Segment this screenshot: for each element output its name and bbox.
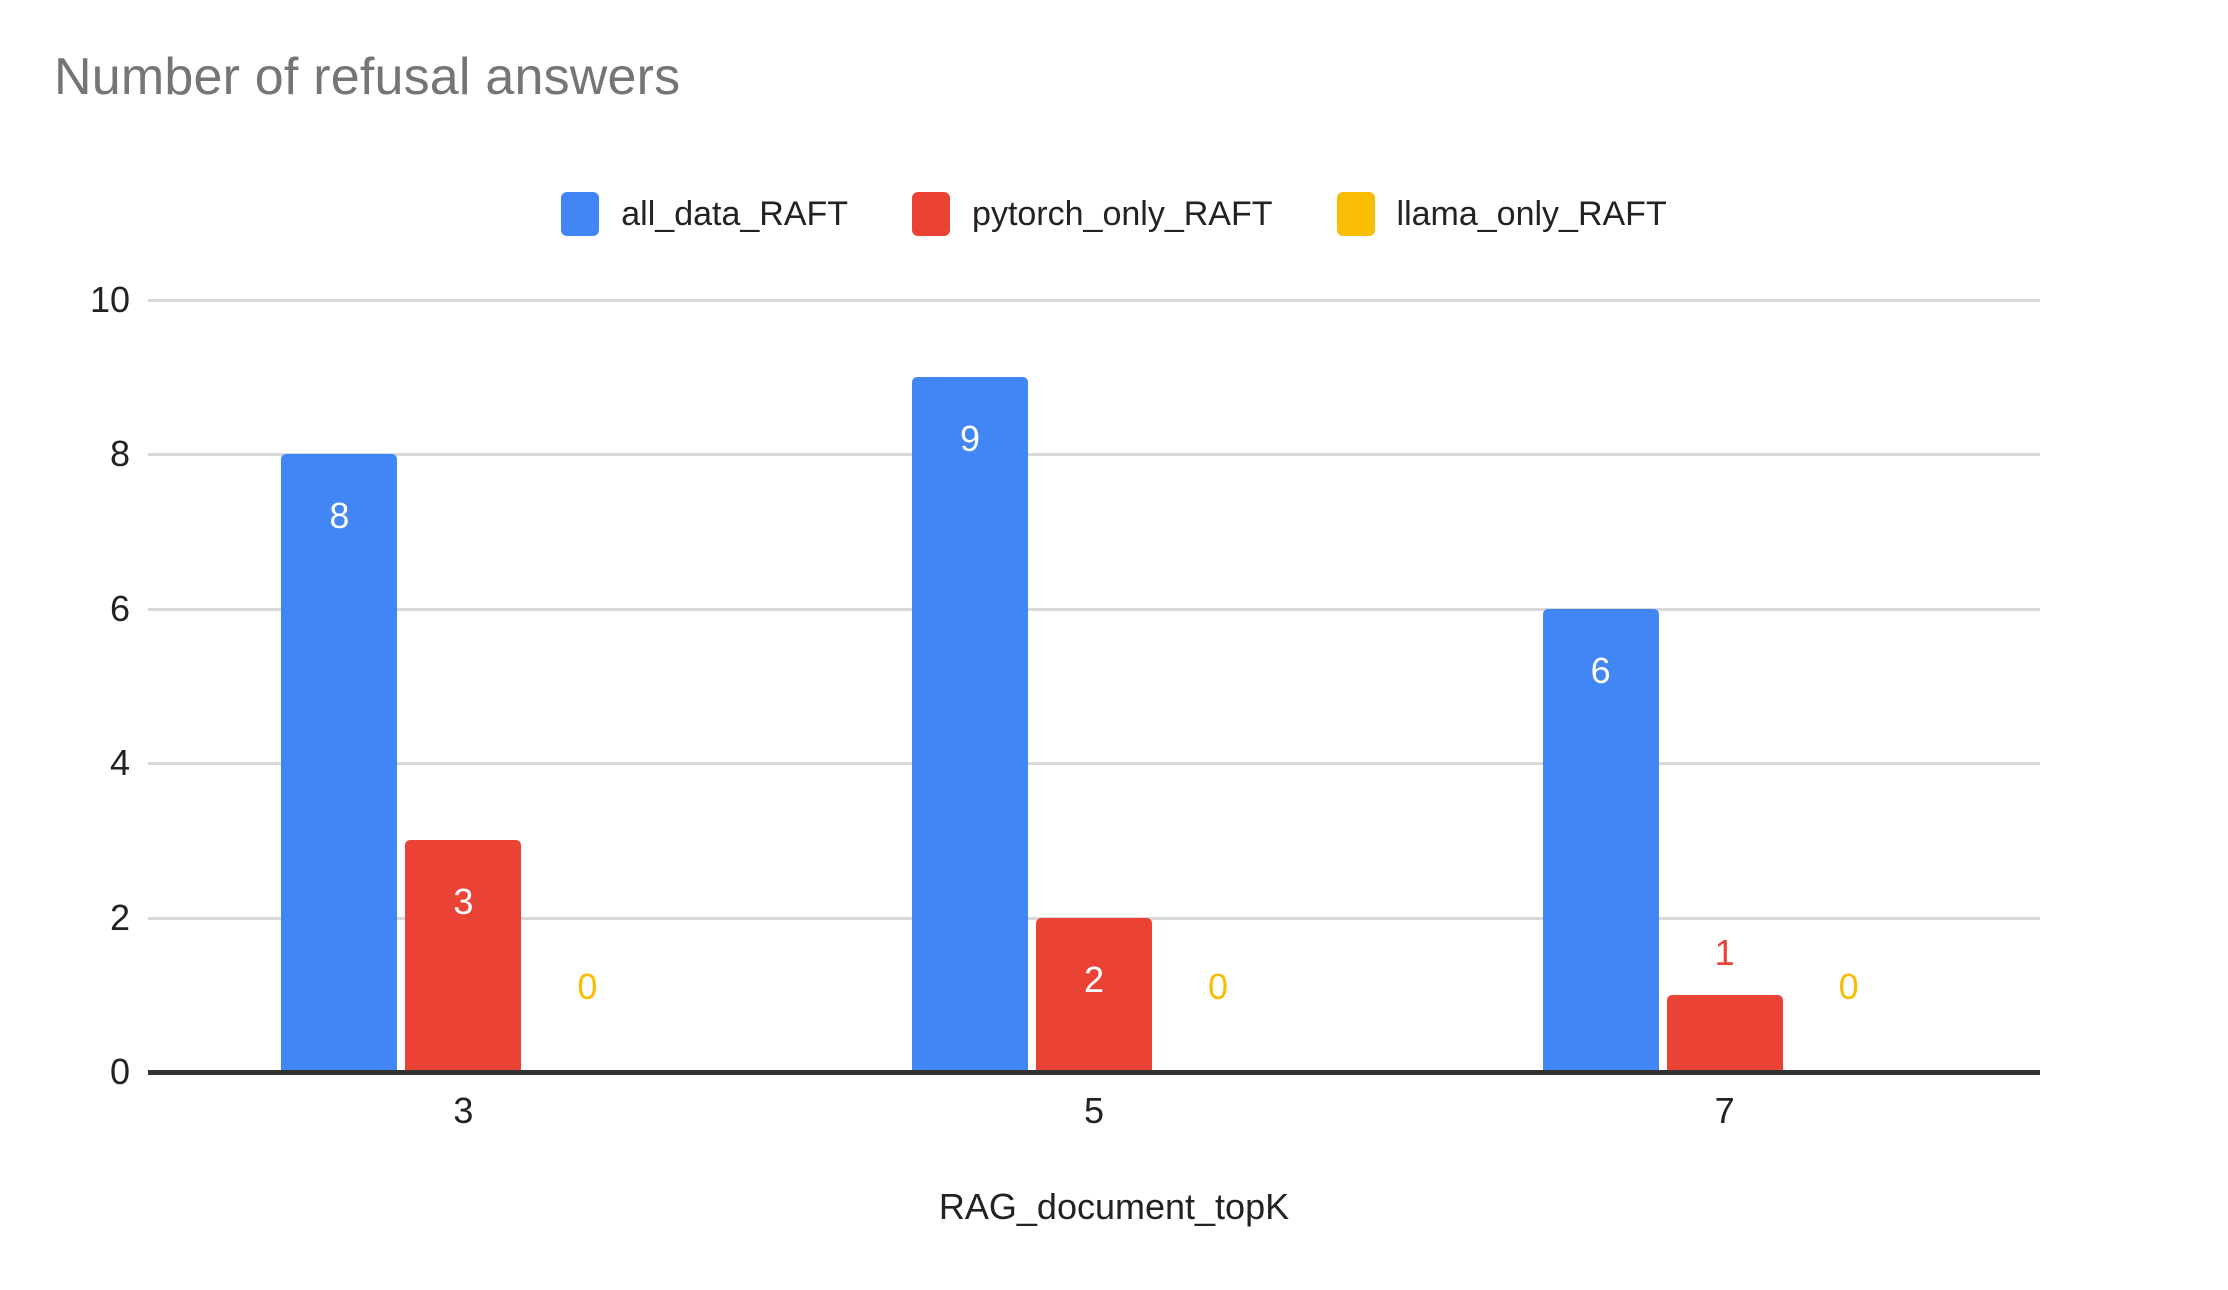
legend-swatch-icon [912,192,950,236]
gridline [148,762,2040,765]
bar-value-label-llama_only_RAFT-3: 0 [577,966,597,1008]
legend-item-all_data_RAFT[interactable]: all_data_RAFT [561,192,848,236]
gridline [148,608,2040,611]
x-axis-line [148,1070,2040,1075]
bar-pytorch_only_RAFT-7[interactable] [1667,995,1783,1072]
bar-value-label-pytorch_only_RAFT-7: 1 [1715,932,1735,974]
bar-all_data_RAFT-5[interactable] [912,377,1028,1072]
x-axis-tick-label: 5 [1084,1090,1104,1132]
legend-item-llama_only_RAFT[interactable]: llama_only_RAFT [1337,192,1667,236]
legend-item-label: all_data_RAFT [621,195,848,234]
y-axis-tick-label: 2 [110,897,130,939]
legend-item-label: llama_only_RAFT [1397,195,1667,234]
gridline [148,299,2040,302]
y-axis-tick-labels: 0246810 [0,300,130,1072]
y-axis-tick-label: 4 [110,742,130,784]
bar-pytorch_only_RAFT-5[interactable] [1036,918,1152,1072]
x-axis-tick-label: 7 [1715,1090,1735,1132]
x-axis-tick-labels: 357 [148,1090,2040,1150]
chart-container: Number of refusal answers all_data_RAFTp… [0,0,2228,1290]
bar-all_data_RAFT-3[interactable] [281,454,397,1072]
chart-title: Number of refusal answers [54,48,680,108]
legend-swatch-icon [561,192,599,236]
x-axis-title: RAG_document_topK [0,1186,2228,1228]
bar-pytorch_only_RAFT-3[interactable] [405,840,521,1072]
chart-legend: all_data_RAFTpytorch_only_RAFTllama_only… [0,186,2228,242]
bar-value-label-llama_only_RAFT-7: 0 [1839,966,1859,1008]
y-axis-tick-label: 6 [110,588,130,630]
y-axis-tick-label: 10 [90,279,130,321]
bar-all_data_RAFT-7[interactable] [1543,609,1659,1072]
bar-value-label-llama_only_RAFT-5: 0 [1208,966,1228,1008]
legend-swatch-icon [1337,192,1375,236]
plot-area: 830920610 [148,300,2040,1072]
y-axis-tick-label: 8 [110,433,130,475]
y-axis-tick-label: 0 [110,1051,130,1093]
legend-item-label: pytorch_only_RAFT [972,195,1272,234]
legend-item-pytorch_only_RAFT[interactable]: pytorch_only_RAFT [912,192,1272,236]
x-axis-tick-label: 3 [453,1090,473,1132]
gridline [148,453,2040,456]
